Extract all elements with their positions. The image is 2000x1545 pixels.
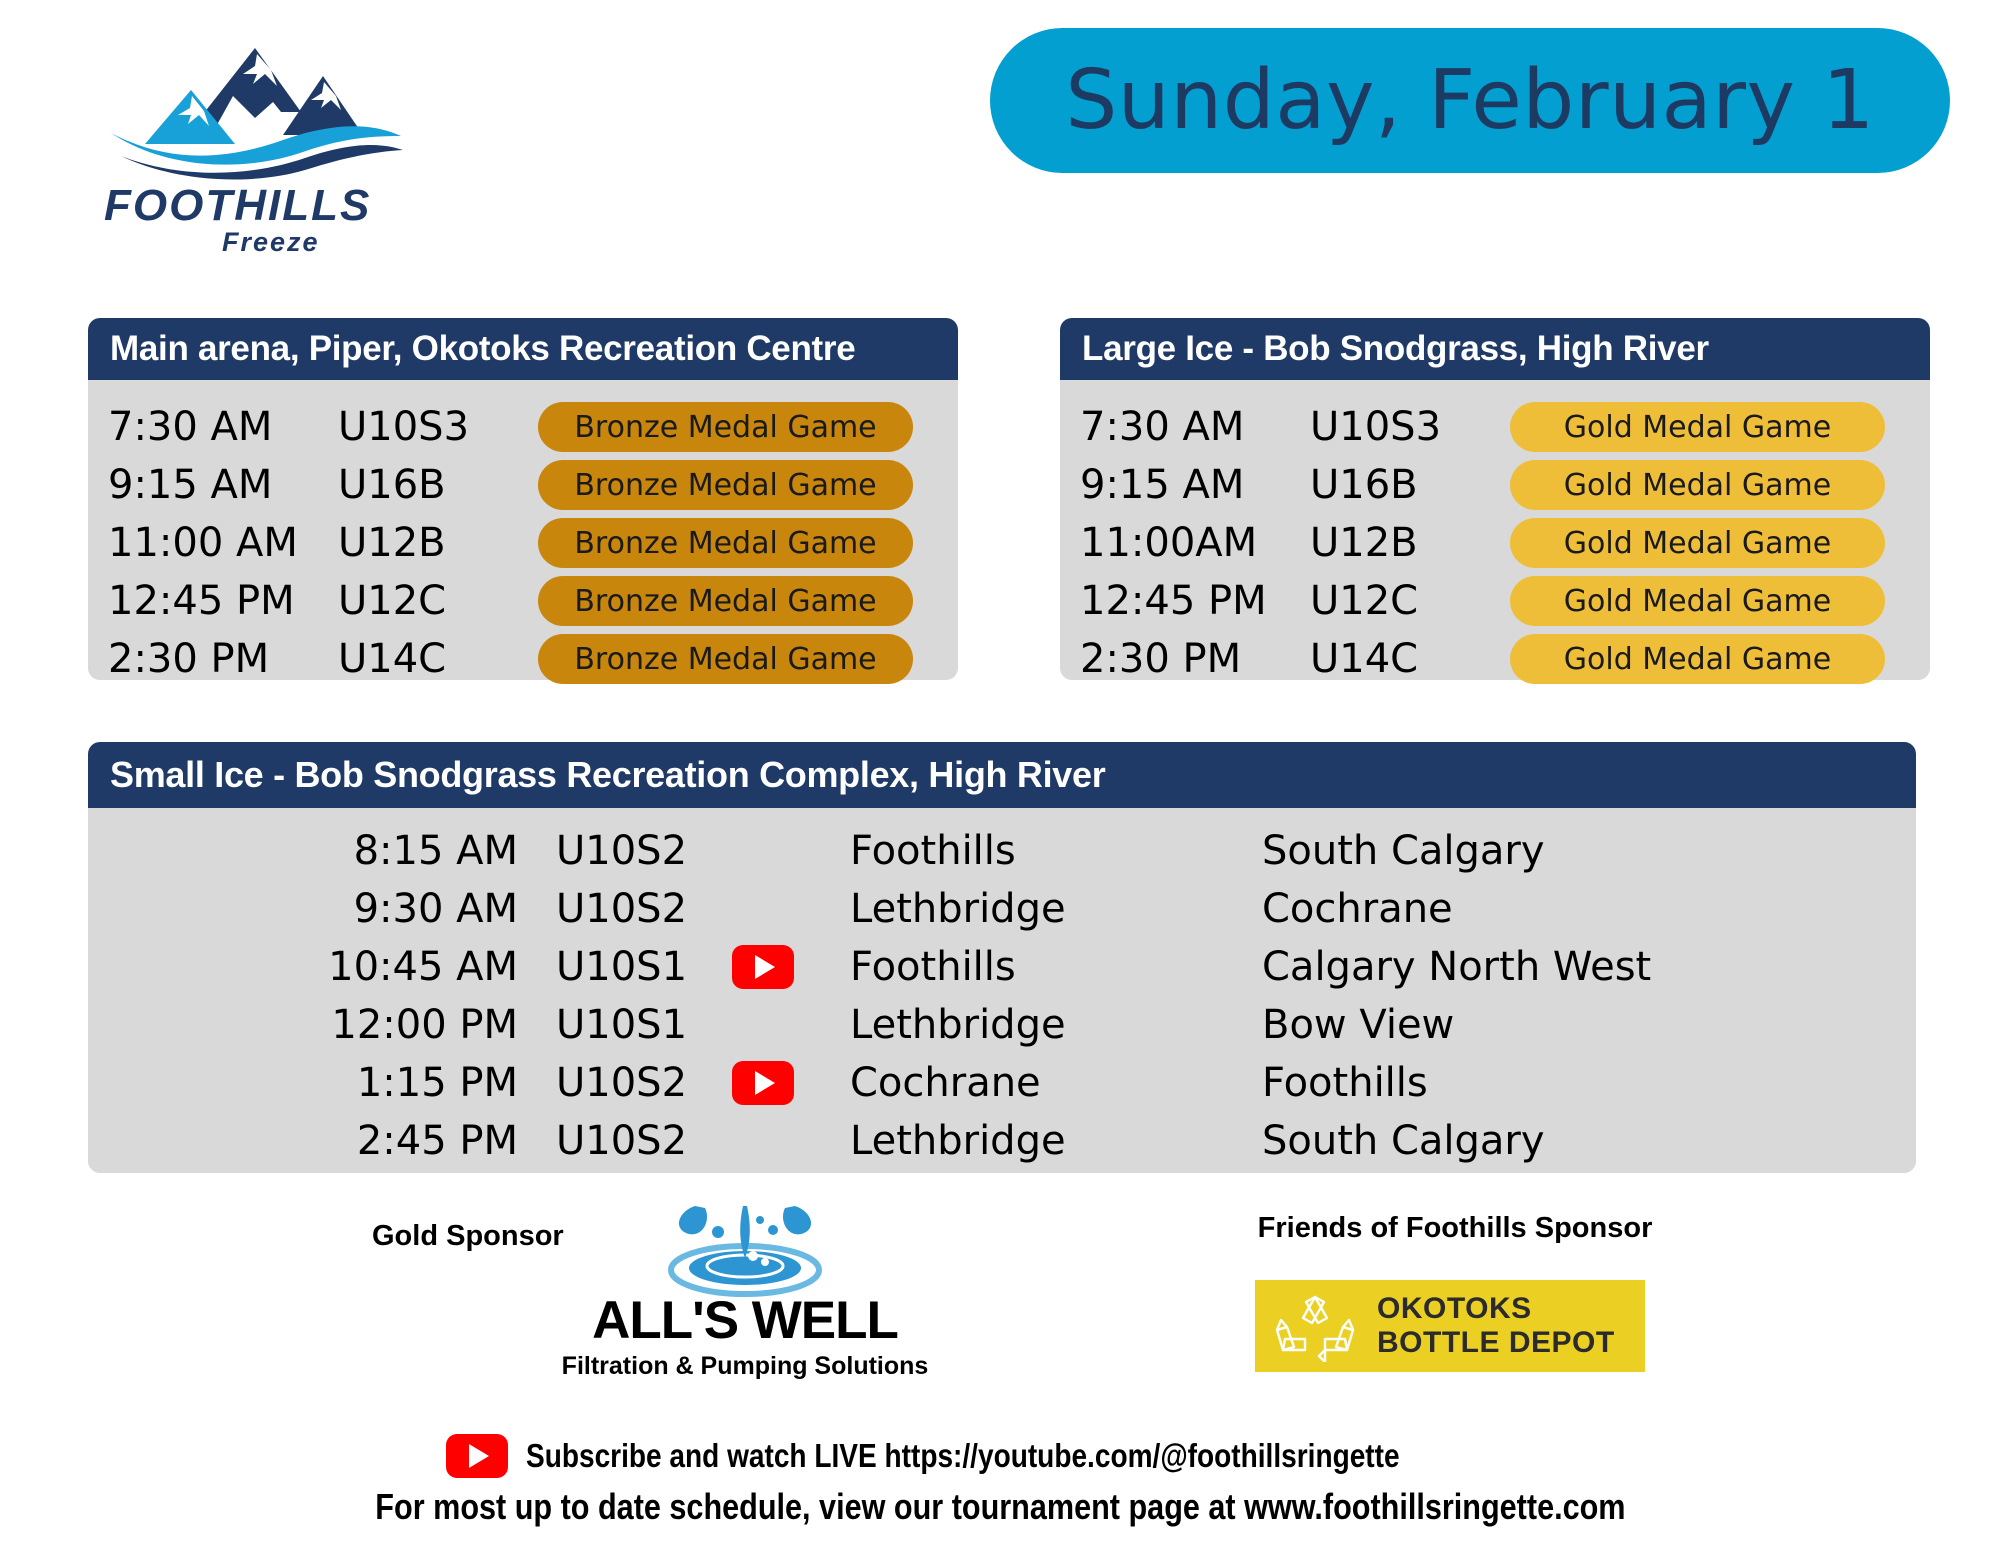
tournament-page-line: For most up to date schedule, view our t… xyxy=(0,1486,2000,1528)
medal-badge: Gold Medal Game xyxy=(1510,402,1885,452)
venue-title-small-ice: Small Ice - Bob Snodgrass Recreation Com… xyxy=(88,742,1916,808)
game-time: 9:15 AM xyxy=(1060,462,1310,508)
schedule-row: 12:45 PM U12C Bronze Medal Game xyxy=(88,572,958,630)
subscribe-text: Subscribe and watch LIVE https://youtube… xyxy=(526,1437,1400,1475)
date-banner-text: Sunday, February 1 xyxy=(1065,60,1875,142)
game-time: 12:45 PM xyxy=(1060,578,1310,624)
game-division: U16B xyxy=(338,462,538,508)
venue-schedule-large-ice: 7:30 AM U10S3 Gold Medal Game 9:15 AM U1… xyxy=(1060,380,1930,680)
svg-text:FOOTHILLS: FOOTHILLS xyxy=(104,181,371,230)
venue-card-large-ice: Large Ice - Bob Snodgrass, High River 7:… xyxy=(1060,318,1930,680)
game-time: 2:30 PM xyxy=(88,636,338,682)
game-time: 7:30 AM xyxy=(1060,404,1310,450)
game-time: 9:15 AM xyxy=(88,462,338,508)
mountain-wave-logo-icon xyxy=(105,40,405,180)
medal-badge: Bronze Medal Game xyxy=(538,402,913,452)
table-row: 12:00 PM U10S1 Lethbridge Bow View xyxy=(88,996,1916,1054)
medal-badge: Gold Medal Game xyxy=(1510,634,1885,684)
away-team: Bow View xyxy=(1248,1002,1916,1048)
away-team: South Calgary xyxy=(1248,1118,1916,1164)
game-division: U12B xyxy=(338,520,538,566)
bottle-depot-line2: BOTTLE DEPOT xyxy=(1377,1326,1615,1360)
medal-badge: Gold Medal Game xyxy=(1510,576,1885,626)
recycle-icon xyxy=(1269,1290,1361,1362)
schedule-row: 2:30 PM U14C Gold Medal Game xyxy=(1060,630,1930,688)
live-stream-cell xyxy=(698,1003,828,1047)
game-time: 1:15 PM xyxy=(88,1060,518,1106)
venue-schedule-main-arena: 7:30 AM U10S3 Bronze Medal Game 9:15 AM … xyxy=(88,380,958,680)
home-team: Lethbridge xyxy=(828,1002,1248,1048)
sponsors-section: Gold Sponsor ALL'S WELL Filtration & Pum… xyxy=(0,1190,2000,1415)
live-stream-cell xyxy=(698,829,828,873)
schedule-row: 11:00AM U12B Gold Medal Game xyxy=(1060,514,1930,572)
game-division: U14C xyxy=(338,636,538,682)
medal-badge: Bronze Medal Game xyxy=(538,634,913,684)
game-time: 7:30 AM xyxy=(88,404,338,450)
table-row: 9:30 AM U10S2 Lethbridge Cochrane xyxy=(88,880,1916,938)
game-time: 11:00 AM xyxy=(88,520,338,566)
venue-card-small-ice: Small Ice - Bob Snodgrass Recreation Com… xyxy=(88,742,1916,1173)
home-team: Foothills xyxy=(828,944,1248,990)
game-division: U12B xyxy=(1310,520,1510,566)
okotoks-bottle-depot-text: OKOTOKS BOTTLE DEPOT xyxy=(1377,1292,1615,1360)
friends-sponsor-label: Friends of Foothills Sponsor xyxy=(1245,1212,1665,1245)
game-division: U10S2 xyxy=(518,886,698,932)
tournament-page-text: For most up to date schedule, view our t… xyxy=(375,1486,1625,1528)
game-division: U10S2 xyxy=(518,828,698,874)
foothills-freeze-logo: FOOTHILLS Freeze xyxy=(100,40,420,255)
home-team: Cochrane xyxy=(828,1060,1248,1106)
game-time: 8:15 AM xyxy=(88,828,518,874)
schedule-row: 11:00 AM U12B Bronze Medal Game xyxy=(88,514,958,572)
venue-title-main-arena: Main arena, Piper, Okotoks Recreation Ce… xyxy=(88,318,958,380)
game-division: U10S2 xyxy=(518,1060,698,1106)
game-time: 12:45 PM xyxy=(88,578,338,624)
away-team: South Calgary xyxy=(1248,828,1916,874)
live-stream-cell xyxy=(698,887,828,931)
alls-well-name: ALL'S WELL xyxy=(545,1290,945,1351)
foothills-freeze-wordmark: FOOTHILLS Freeze xyxy=(100,178,410,258)
game-time: 10:45 AM xyxy=(88,944,518,990)
schedule-row: 12:45 PM U12C Gold Medal Game xyxy=(1060,572,1930,630)
venue-schedule-small-ice: 8:15 AM U10S2 Foothills South Calgary 9:… xyxy=(88,808,1916,1173)
schedule-row: 2:30 PM U14C Bronze Medal Game xyxy=(88,630,958,688)
home-team: Lethbridge xyxy=(828,1118,1248,1164)
table-row: 1:15 PM U10S2 Cochrane Foothills xyxy=(88,1054,1916,1112)
alls-well-logo: ALL'S WELL Filtration & Pumping Solution… xyxy=(545,1190,945,1380)
bottle-depot-line1: OKOTOKS xyxy=(1377,1292,1615,1326)
game-time: 2:45 PM xyxy=(88,1118,518,1164)
schedule-row: 7:30 AM U10S3 Gold Medal Game xyxy=(1060,398,1930,456)
subscribe-line: Subscribe and watch LIVE https://youtube… xyxy=(0,1430,2000,1482)
medal-badge: Bronze Medal Game xyxy=(538,518,913,568)
game-time: 12:00 PM xyxy=(88,1002,518,1048)
game-division: U10S1 xyxy=(518,944,698,990)
schedule-row: 7:30 AM U10S3 Bronze Medal Game xyxy=(88,398,958,456)
game-time: 11:00AM xyxy=(1060,520,1310,566)
game-division: U10S2 xyxy=(518,1118,698,1164)
live-stream-cell xyxy=(698,945,828,989)
schedule-row: 9:15 AM U16B Bronze Medal Game xyxy=(88,456,958,514)
medal-badge: Gold Medal Game xyxy=(1510,460,1885,510)
game-division: U10S3 xyxy=(338,404,538,450)
away-team: Foothills xyxy=(1248,1060,1916,1106)
medal-badge: Bronze Medal Game xyxy=(538,576,913,626)
table-row: 10:45 AM U10S1 Foothills Calgary North W… xyxy=(88,938,1916,996)
schedule-row: 9:15 AM U16B Gold Medal Game xyxy=(1060,456,1930,514)
game-time: 9:30 AM xyxy=(88,886,518,932)
alls-well-tagline: Filtration & Pumping Solutions xyxy=(545,1352,945,1381)
home-team: Lethbridge xyxy=(828,886,1248,932)
game-division: U10S3 xyxy=(1310,404,1510,450)
okotoks-bottle-depot-logo: OKOTOKS BOTTLE DEPOT xyxy=(1255,1280,1645,1372)
game-division: U14C xyxy=(1310,636,1510,682)
youtube-play-icon[interactable] xyxy=(732,945,794,989)
game-time: 2:30 PM xyxy=(1060,636,1310,682)
game-division: U16B xyxy=(1310,462,1510,508)
game-division: U10S1 xyxy=(518,1002,698,1048)
medal-badge: Gold Medal Game xyxy=(1510,518,1885,568)
game-division: U12C xyxy=(338,578,538,624)
live-stream-cell xyxy=(698,1061,828,1105)
away-team: Cochrane xyxy=(1248,886,1916,932)
venue-card-main-arena: Main arena, Piper, Okotoks Recreation Ce… xyxy=(88,318,958,680)
water-splash-icon xyxy=(655,1190,835,1298)
medal-badge: Bronze Medal Game xyxy=(538,460,913,510)
page-footer: Subscribe and watch LIVE https://youtube… xyxy=(0,1430,2000,1545)
away-team: Calgary North West xyxy=(1248,944,1916,990)
date-banner: Sunday, February 1 xyxy=(990,28,1950,173)
svg-text:Freeze: Freeze xyxy=(222,227,320,257)
venue-title-large-ice: Large Ice - Bob Snodgrass, High River xyxy=(1060,318,1930,380)
game-division: U12C xyxy=(1310,578,1510,624)
live-stream-cell xyxy=(698,1119,828,1163)
youtube-play-icon[interactable] xyxy=(446,1434,508,1478)
table-row: 2:45 PM U10S2 Lethbridge South Calgary xyxy=(88,1112,1916,1170)
youtube-play-icon[interactable] xyxy=(732,1061,794,1105)
page-header: FOOTHILLS Freeze Sunday, February 1 xyxy=(0,0,2000,270)
home-team: Foothills xyxy=(828,828,1248,874)
table-row: 8:15 AM U10S2 Foothills South Calgary xyxy=(88,822,1916,880)
